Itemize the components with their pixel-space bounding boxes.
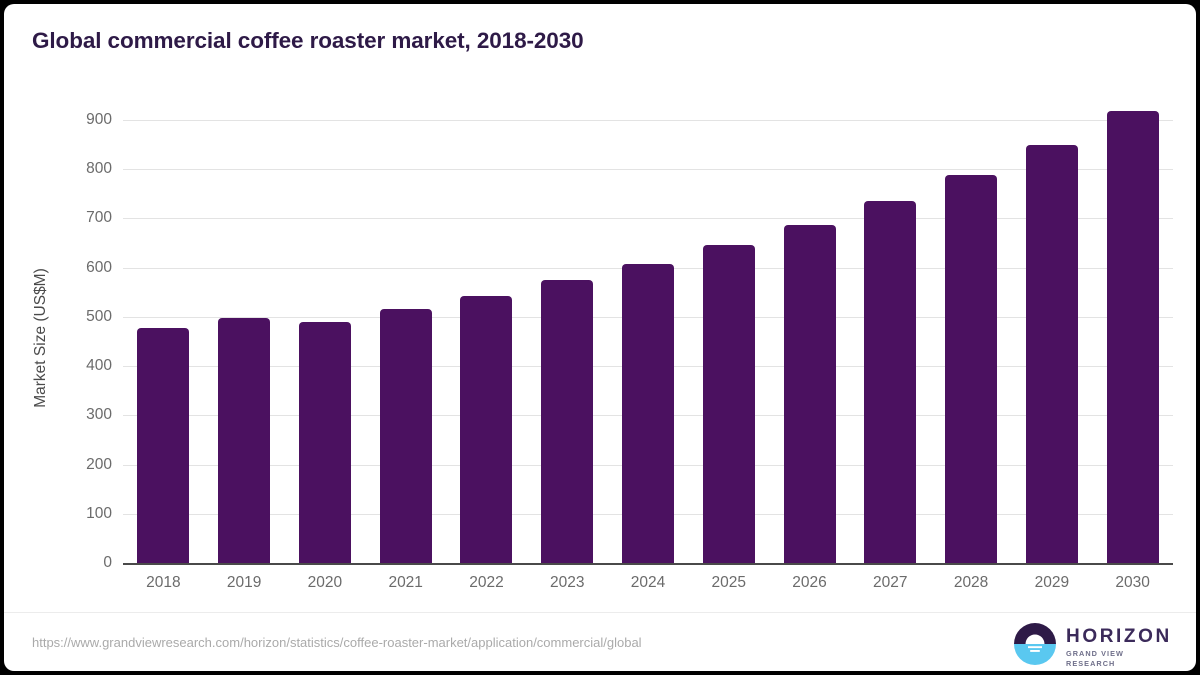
bar[interactable] xyxy=(784,225,836,563)
bar[interactable] xyxy=(541,280,593,563)
x-axis-tick-label: 2021 xyxy=(388,574,422,592)
bar[interactable] xyxy=(622,264,674,563)
x-axis-tick-label: 2029 xyxy=(1035,574,1069,592)
bar[interactable] xyxy=(218,318,270,563)
bar-series xyxy=(4,4,1196,671)
bar[interactable] xyxy=(380,309,432,563)
bar[interactable] xyxy=(299,322,351,563)
horizon-logo[interactable]: HORIZON GRAND VIEW RESEARCH xyxy=(1014,621,1164,667)
x-axis-tick-label: 2024 xyxy=(631,574,665,592)
x-axis-tick-label: 2025 xyxy=(712,574,746,592)
x-axis-tick-label: 2026 xyxy=(792,574,826,592)
x-axis-tick-label: 2018 xyxy=(146,574,180,592)
horizon-sun-circle-icon xyxy=(1014,623,1056,665)
source-url[interactable]: https://www.grandviewresearch.com/horizo… xyxy=(32,635,642,650)
x-axis-tick-label: 2030 xyxy=(1115,574,1149,592)
bar[interactable] xyxy=(864,201,916,563)
bar[interactable] xyxy=(945,175,997,563)
x-axis-tick-label: 2022 xyxy=(469,574,503,592)
bar[interactable] xyxy=(460,296,512,563)
x-axis-tick-label: 2023 xyxy=(550,574,584,592)
logo-wordmark: HORIZON xyxy=(1066,627,1166,647)
x-axis-tick-label: 2019 xyxy=(227,574,261,592)
logo-text-block: HORIZON GRAND VIEW RESEARCH xyxy=(1066,627,1166,669)
footer-divider xyxy=(4,612,1196,613)
bar[interactable] xyxy=(1107,111,1159,563)
bar[interactable] xyxy=(137,328,189,563)
bar[interactable] xyxy=(703,245,755,563)
logo-tagline: GRAND VIEW RESEARCH xyxy=(1066,649,1166,669)
x-axis-tick-label: 2028 xyxy=(954,574,988,592)
bar[interactable] xyxy=(1026,145,1078,563)
x-axis-tick-label: 2020 xyxy=(308,574,342,592)
x-axis-tick-label: 2027 xyxy=(873,574,907,592)
chart-plot-area: Market Size (US$M) 010020030040050060070… xyxy=(4,4,1196,671)
chart-card: Global commercial coffee roaster market,… xyxy=(4,4,1196,671)
